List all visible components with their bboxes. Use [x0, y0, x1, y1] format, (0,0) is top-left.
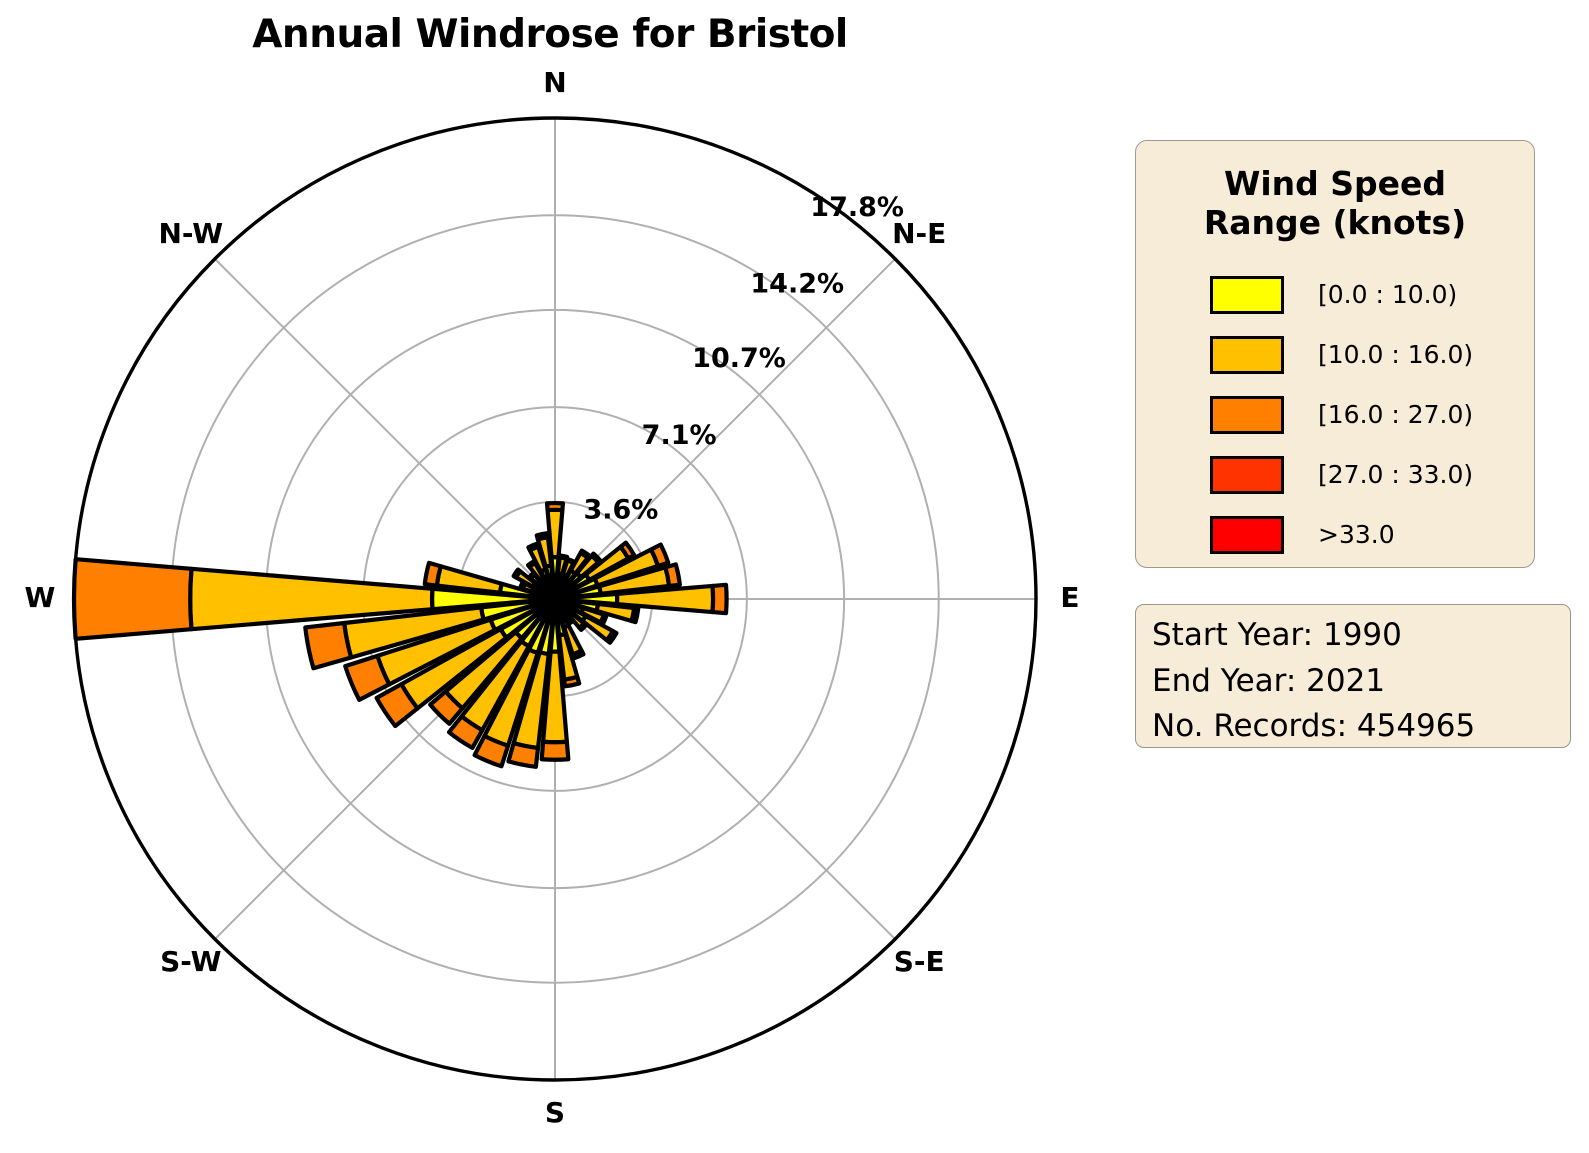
radial-tick-label: 7.1% — [642, 420, 717, 451]
info-panel: Start Year: 1990 End Year: 2021 No. Reco… — [1135, 604, 1571, 748]
direction-label-ne: N-E — [892, 217, 946, 250]
windrose-petal-segment — [508, 743, 538, 767]
legend-row[interactable]: >33.0 — [1136, 505, 1534, 565]
radial-tick-labels: 3.6%7.1%10.7%14.2%17.8% — [583, 192, 904, 525]
windrose-petal-segment — [601, 615, 607, 624]
legend-items: [0.0 : 10.0)[10.0 : 16.0)[16.0 : 27.0)[2… — [1136, 265, 1534, 565]
windrose-petal-segment — [74, 559, 191, 639]
info-end-year: End Year: 2021 — [1152, 659, 1556, 705]
direction-label-s: S — [545, 1096, 565, 1129]
grid-spoke — [555, 259, 895, 599]
legend-swatch — [1210, 276, 1284, 314]
legend-swatch — [1210, 336, 1284, 374]
legend-title-line1: Wind Speed — [1136, 165, 1534, 204]
legend-title: Wind Speed Range (knots) — [1136, 141, 1534, 243]
legend-swatch — [1210, 516, 1284, 554]
windrose-svg: 3.6%7.1%10.7%14.2%17.8%NN-EES-ESS-WWN-W — [0, 0, 1100, 1153]
legend-row[interactable]: [27.0 : 33.0) — [1136, 445, 1534, 505]
grid-spoke — [555, 599, 895, 939]
windrose-petal-segment — [713, 585, 727, 613]
windrose-petal-segment — [632, 608, 639, 622]
info-records: No. Records: 454965 — [1152, 704, 1556, 750]
direction-label-w: W — [25, 581, 56, 614]
windrose-petal-segment — [665, 564, 679, 586]
windrose-petal-segment — [537, 533, 548, 539]
legend-label: [10.0 : 16.0) — [1318, 340, 1473, 369]
legend-title-line2: Range (knots) — [1136, 204, 1534, 243]
direction-label-nw: N-W — [158, 217, 223, 250]
windrose-petal-segment — [542, 742, 569, 760]
windrose-petal-segment — [547, 503, 563, 510]
windrose-chart: 3.6%7.1%10.7%14.2%17.8%NN-EES-ESS-WWN-W — [0, 0, 1100, 1153]
windrose-petal-segment — [579, 623, 585, 629]
legend-label: [27.0 : 33.0) — [1318, 460, 1473, 489]
legend-label: [0.0 : 10.0) — [1318, 280, 1457, 309]
radial-tick-label: 10.7% — [692, 343, 786, 374]
direction-label-e: E — [1060, 581, 1079, 614]
windrose-petal-segment — [514, 570, 520, 578]
legend-row[interactable]: [10.0 : 16.0) — [1136, 325, 1534, 385]
legend-panel: Wind Speed Range (knots) [0.0 : 10.0)[10… — [1135, 140, 1535, 568]
legend-row[interactable]: [0.0 : 10.0) — [1136, 265, 1534, 325]
windrose-petal-segment — [437, 566, 502, 593]
radial-tick-label: 17.8% — [810, 192, 904, 223]
legend-row[interactable]: [16.0 : 27.0) — [1136, 385, 1534, 445]
windrose-petal-segment — [528, 544, 538, 551]
windrose-petal-segment — [564, 677, 579, 686]
legend-swatch — [1210, 456, 1284, 494]
windrose-petal-segment — [305, 623, 351, 668]
direction-label-se: S-E — [894, 945, 945, 978]
grid-spoke — [215, 259, 555, 599]
radial-tick-label: 14.2% — [750, 269, 844, 300]
info-start-year: Start Year: 1990 — [1152, 613, 1556, 659]
windrose-petals — [74, 503, 727, 767]
windrose-petal-segment — [425, 563, 441, 586]
direction-label-n: N — [543, 66, 566, 99]
legend-label: >33.0 — [1318, 520, 1395, 549]
radial-tick-label: 3.6% — [583, 494, 658, 525]
direction-label-sw: S-W — [160, 945, 222, 978]
legend-label: [16.0 : 27.0) — [1318, 400, 1473, 429]
legend-swatch — [1210, 396, 1284, 434]
windrose-petal-segment — [573, 651, 584, 659]
